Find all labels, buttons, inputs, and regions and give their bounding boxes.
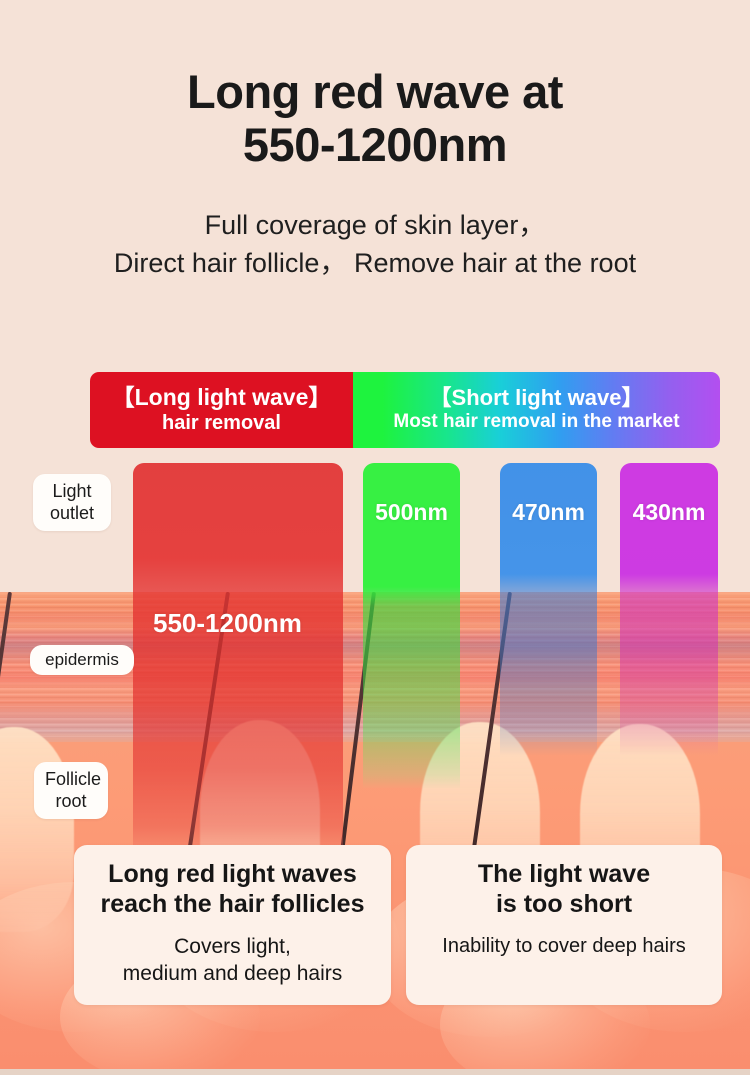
page-title: Long red wave at 550-1200nm <box>0 66 750 171</box>
subtitle-line-2: Direct hair follicle， Remove hair at the… <box>0 244 750 282</box>
card-left-heading-line-1: Long red light waves <box>101 860 365 890</box>
card-right-heading-line-1: The light wave <box>478 860 650 890</box>
card-right-heading-line-2: is too short <box>478 890 650 920</box>
label-light-outlet: Light outlet <box>33 474 111 531</box>
label-epidermis: epidermis <box>30 645 134 675</box>
title-line-1: Long red wave at <box>0 66 750 119</box>
banner-long-title: 【Long light wave】 <box>112 385 332 411</box>
beam-blue-470nm: 470nm <box>500 463 597 755</box>
beam-label-470nm: 470nm <box>500 499 597 526</box>
info-card-long-red-wave: Long red light waves reach the hair foll… <box>74 845 391 1005</box>
card-left-heading-line-2: reach the hair follicles <box>101 890 365 920</box>
beam-label-550-1200nm: 550-1200nm <box>133 608 343 639</box>
card-left-heading: Long red light waves reach the hair foll… <box>101 860 365 919</box>
card-left-subtext: Covers light, medium and deep hairs <box>123 933 342 988</box>
banner-short-light-wave: 【Short light wave】 Most hair removal in … <box>353 372 720 448</box>
banner-short-title: 【Short light wave】 <box>430 386 644 411</box>
banner-short-subtitle: Most hair removal in the market <box>393 411 679 434</box>
card-left-subtext-line-2: medium and deep hairs <box>123 960 342 987</box>
banner-long-light-wave: 【Long light wave】 hair removal <box>90 372 353 448</box>
label-follicle-root: Follicle root <box>34 762 108 819</box>
header-section: Long red wave at 550-1200nm Full coverag… <box>0 0 750 370</box>
beam-green-500nm: 500nm <box>363 463 460 788</box>
subtitle-line-1: Full coverage of skin layer， <box>0 206 750 244</box>
follicle-root-line-2: root <box>45 791 97 813</box>
light-outlet-line-1: Light <box>44 481 100 503</box>
beam-long-red-wave: 550-1200nm <box>133 463 343 845</box>
title-line-2: 550-1200nm <box>0 119 750 172</box>
card-right-subtext-line-1: Inability to cover deep hairs <box>442 933 685 959</box>
beam-label-500nm: 500nm <box>363 499 460 526</box>
light-outlet-line-2: outlet <box>44 503 100 525</box>
comparison-banner: 【Long light wave】 hair removal 【Short li… <box>90 372 720 448</box>
card-left-subtext-line-1: Covers light, <box>123 933 342 960</box>
banner-long-subtitle: hair removal <box>162 411 281 435</box>
page-subtitle: Full coverage of skin layer， Direct hair… <box>0 206 750 283</box>
card-right-heading: The light wave is too short <box>478 860 650 919</box>
infographic-root: Long red wave at 550-1200nm Full coverag… <box>0 0 750 1075</box>
beam-purple-430nm: 430nm <box>620 463 718 755</box>
beam-label-430nm: 430nm <box>620 499 718 526</box>
bottom-edge-strip <box>0 1069 750 1075</box>
info-card-short-wave: The light wave is too short Inability to… <box>406 845 722 1005</box>
card-right-subtext: Inability to cover deep hairs <box>442 933 685 959</box>
follicle-root-line-1: Follicle <box>45 769 97 791</box>
